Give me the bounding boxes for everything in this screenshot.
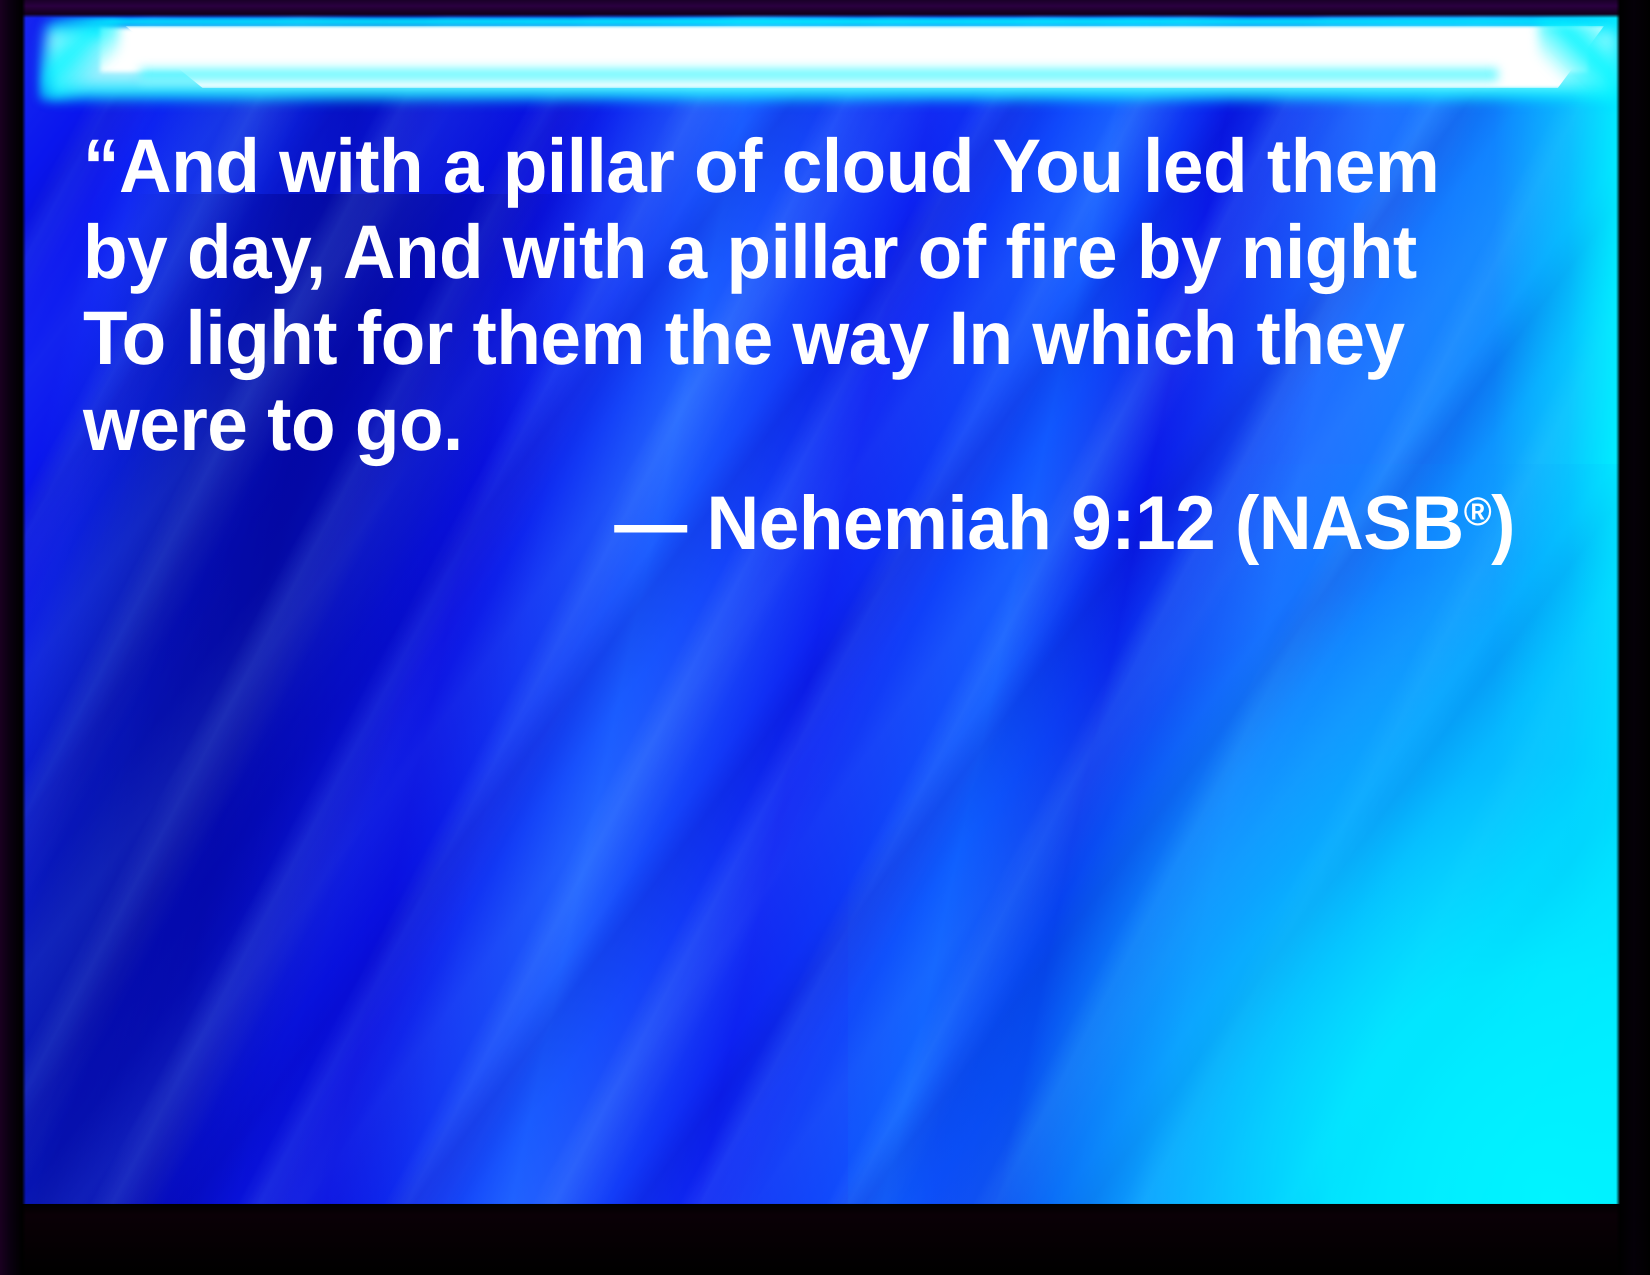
verse-attribution: — Nehemiah 9:12 (NASB®) [140,469,1515,567]
attribution-reference: Nehemiah 9:12 (NASB [707,481,1464,566]
scripture-slide: “And with a pillar of cloud You led them… [0,0,1650,1275]
background-cyan-corner-glow [848,464,1628,1204]
attribution-em-dash: — [614,481,706,566]
verse-text: “And with a pillar of cloud You led them… [83,124,1458,468]
slide-canvas: “And with a pillar of cloud You led them… [20,14,1628,1204]
attribution-closing-paren: ) [1491,481,1515,566]
registered-trademark-icon: ® [1464,490,1491,534]
